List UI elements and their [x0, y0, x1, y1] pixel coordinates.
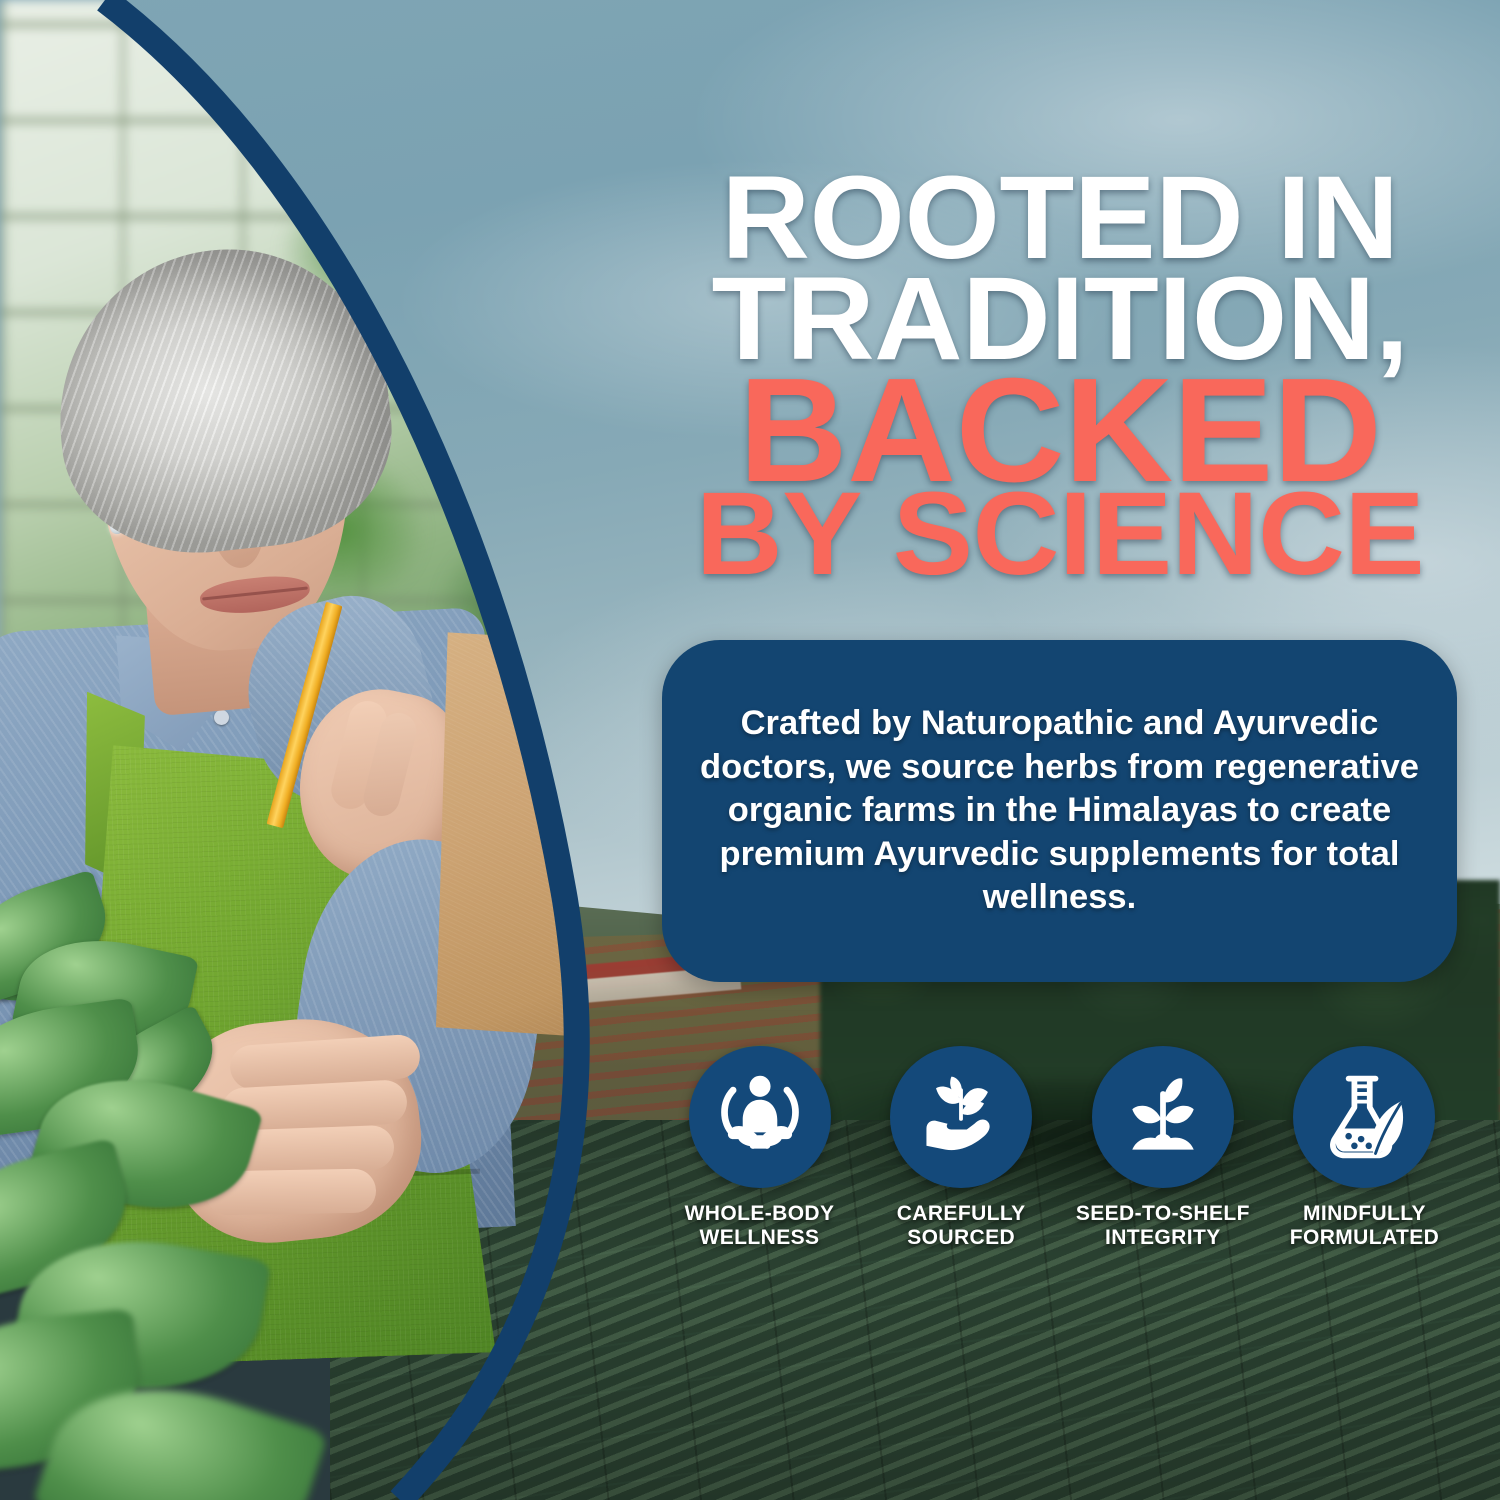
feature-icon-circle: [1092, 1046, 1234, 1188]
feature-whole-body-wellness: WHOLE-BODY WELLNESS: [662, 1046, 857, 1286]
feature-mindfully-formulated: MINDFULLY FORMULATED: [1267, 1046, 1462, 1286]
hand-holding-plant-icon: [913, 1069, 1009, 1165]
feature-icon-circle: [1293, 1046, 1435, 1188]
feature-icon-circle: [890, 1046, 1032, 1188]
shirt-button: [214, 710, 229, 725]
feature-label-line-2: SOURCED: [907, 1226, 1015, 1249]
promo-banner: ROOTED IN TRADITION, BACKED BY SCIENCE C…: [0, 0, 1500, 1500]
feature-label: SEED-TO-SHELF INTEGRITY: [1076, 1202, 1250, 1250]
meditation-lotus-icon: [712, 1069, 808, 1165]
feature-label-line-2: WELLNESS: [700, 1226, 820, 1249]
feature-label-line-2: FORMULATED: [1290, 1226, 1439, 1249]
headline-line-4: BY SCIENCE: [632, 484, 1489, 585]
feature-label: CAREFULLY SOURCED: [897, 1202, 1026, 1250]
description-text: Crafted by Naturopathic and Ayurvedic do…: [662, 702, 1457, 919]
feature-label-line-1: MINDFULLY: [1303, 1202, 1426, 1225]
feature-seed-to-shelf-integrity: SEED-TO-SHELF INTEGRITY: [1065, 1046, 1260, 1286]
feature-label-line-2: INTEGRITY: [1105, 1226, 1221, 1249]
feature-icon-circle: [689, 1046, 831, 1188]
feature-badges: WHOLE-BODY WELLNESS CAREFULLY SOURCED: [662, 1046, 1462, 1286]
seedling-sprout-icon: [1115, 1069, 1211, 1165]
foreground-plants: [0, 890, 300, 1500]
feature-label: WHOLE-BODY WELLNESS: [685, 1202, 835, 1250]
headline: ROOTED IN TRADITION, BACKED BY SCIENCE: [640, 168, 1480, 586]
feature-label-line-1: CAREFULLY: [897, 1202, 1026, 1225]
flask-leaf-icon: [1316, 1069, 1412, 1165]
feature-carefully-sourced: CAREFULLY SOURCED: [864, 1046, 1059, 1286]
description-panel: Crafted by Naturopathic and Ayurvedic do…: [662, 640, 1457, 982]
feature-label: MINDFULLY FORMULATED: [1290, 1202, 1439, 1250]
feature-label-line-1: SEED-TO-SHELF: [1076, 1202, 1250, 1225]
feature-label-line-1: WHOLE-BODY: [685, 1202, 835, 1225]
